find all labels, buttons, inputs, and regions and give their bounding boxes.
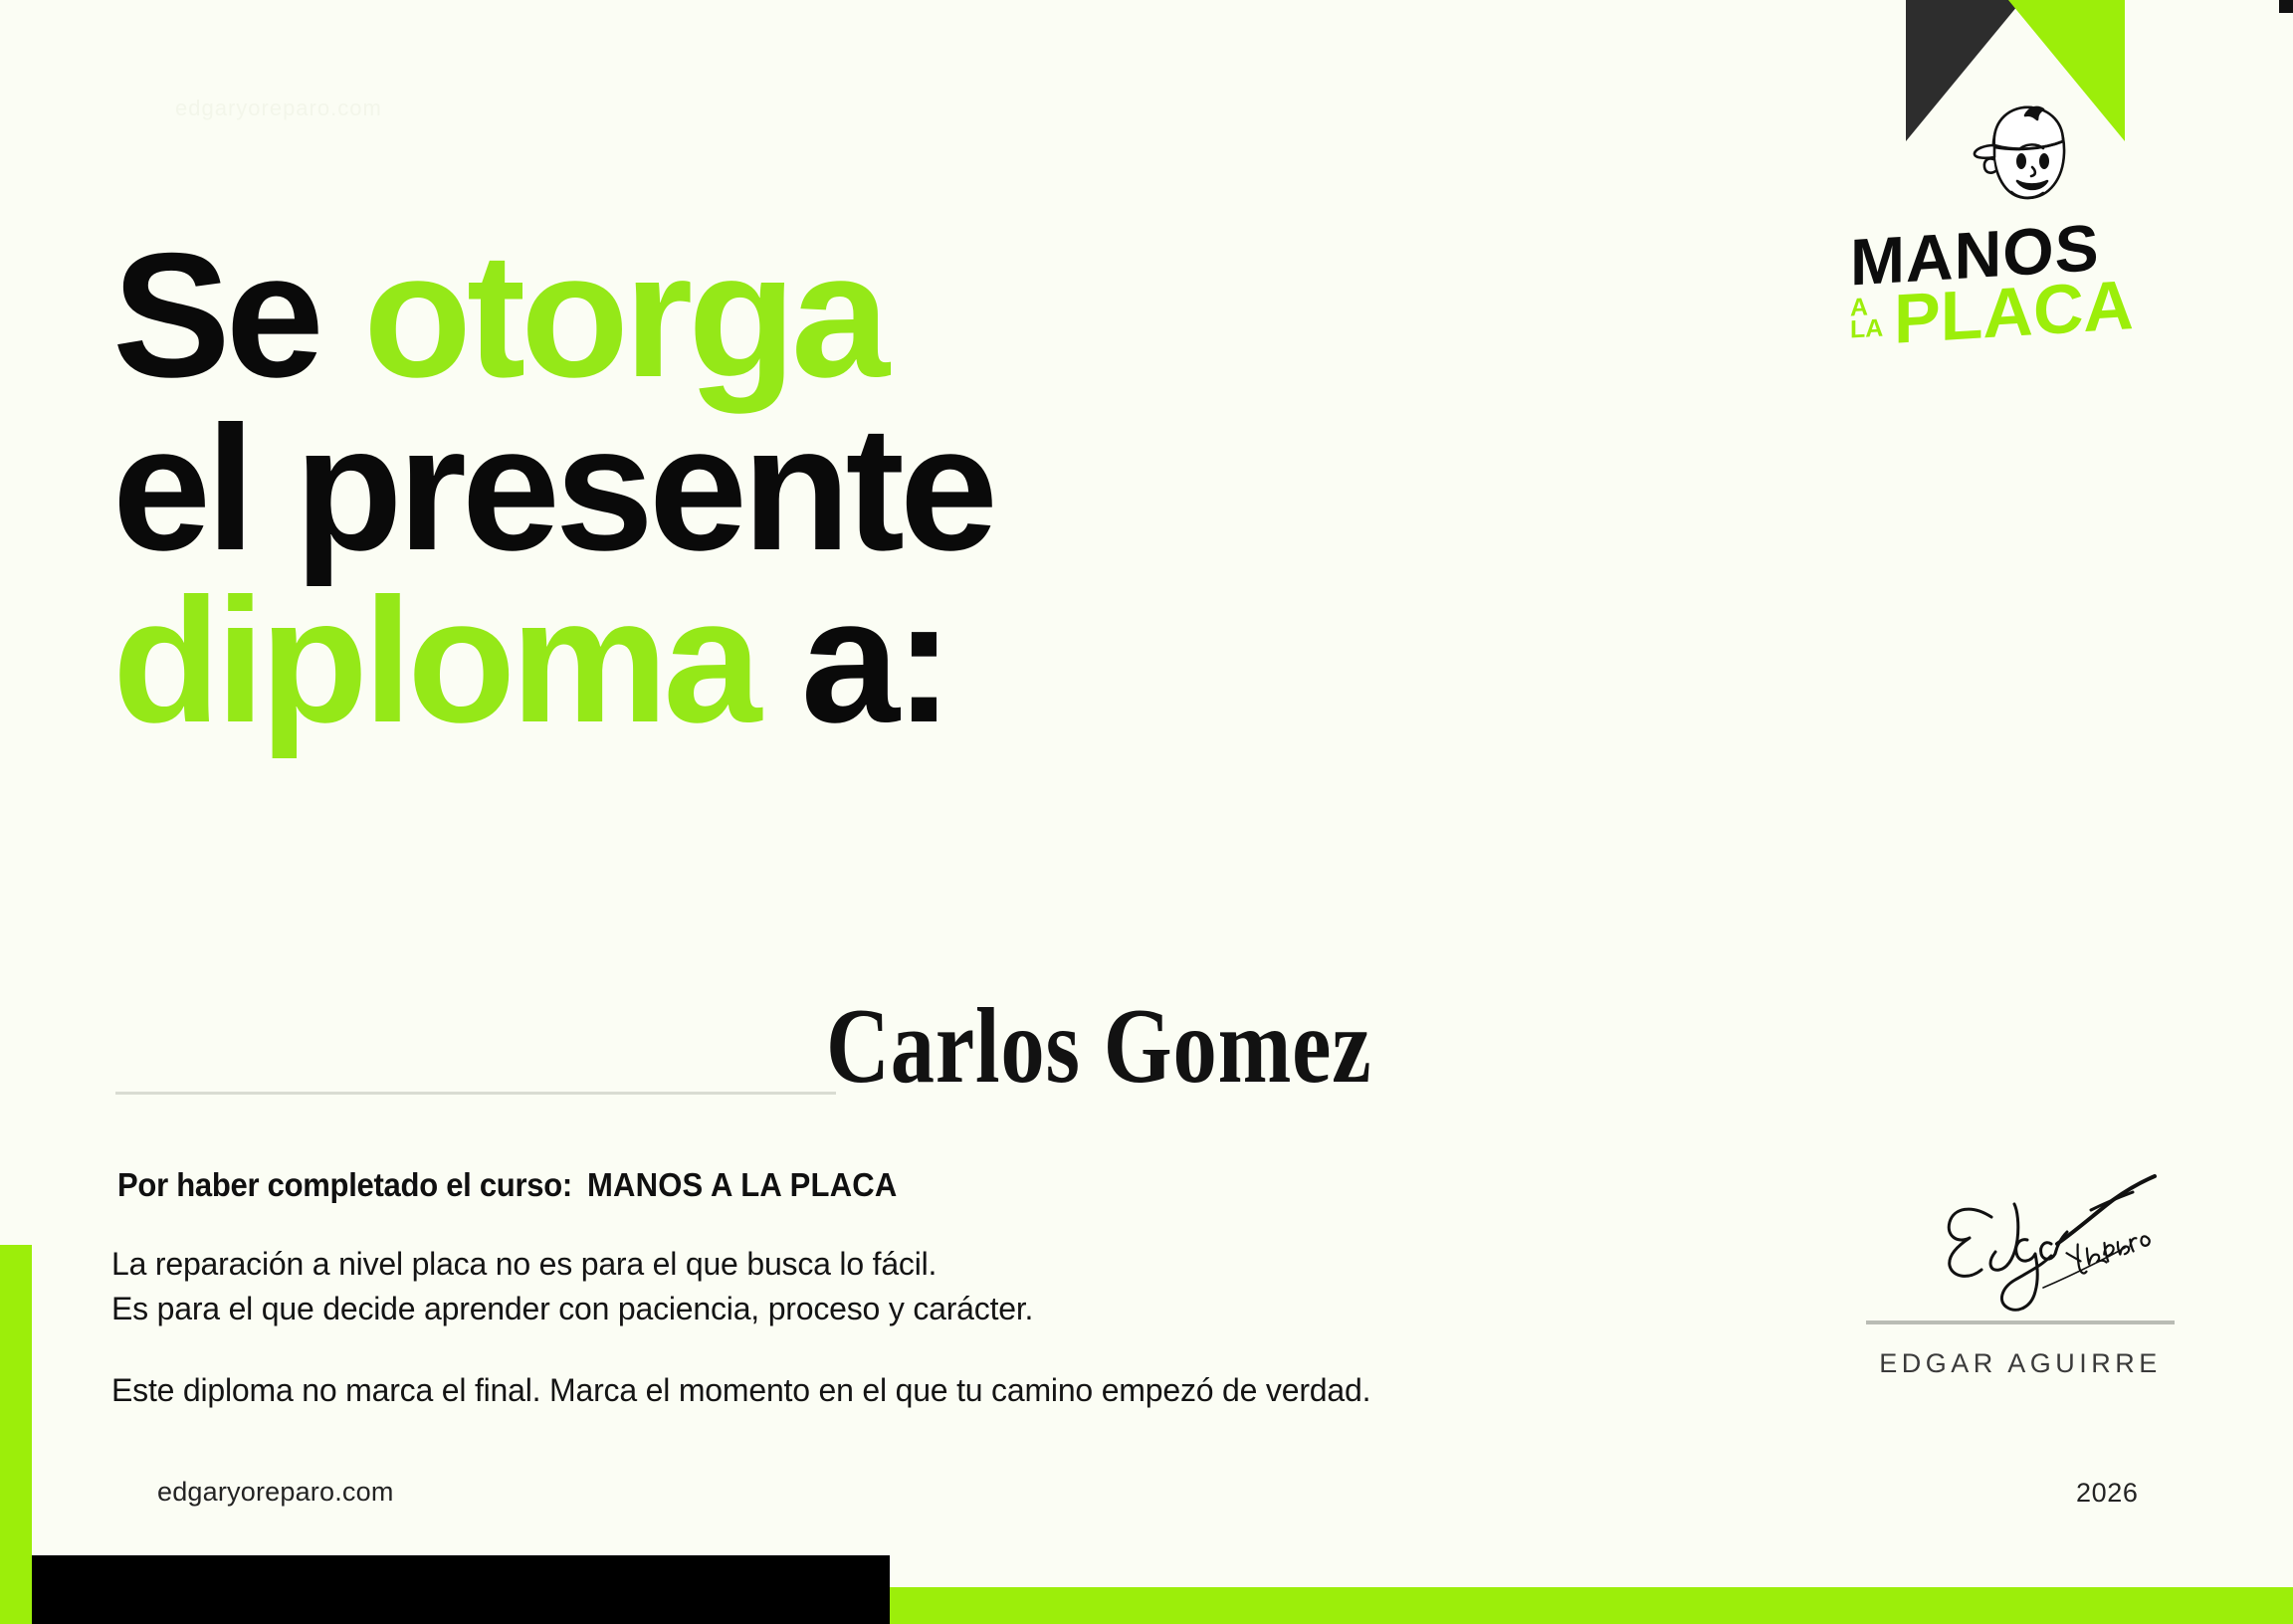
headline-otorga: otorga (363, 216, 885, 414)
logo-wordmark-second-line: A LA PLACA (1850, 270, 2224, 358)
headline-line-3: diploma a: (112, 574, 1665, 747)
body-paragraph-1-line-1: La reparación a nivel placa no es para e… (111, 1242, 1664, 1287)
headline-el-presente: el presente (112, 389, 993, 587)
brand-logo: MANOS A LA PLACA (1846, 0, 2224, 452)
signature-block: EDGAR AGUIRRE (1846, 1160, 2194, 1379)
logo-wordmark-a-la: A LA (1850, 294, 1896, 340)
logo-wordmark-placa: PLACA (1894, 270, 2134, 354)
course-prefix-label: Por haber completado el curso: (117, 1166, 572, 1203)
signature-art (1846, 1160, 2194, 1315)
body-paragraph-2: Este diploma no marca el final. Marca el… (111, 1368, 1664, 1413)
paragraph-spacer (111, 1332, 1664, 1368)
body-copy: La reparación a nivel placa no es para e… (111, 1242, 1664, 1413)
footer-website: edgaryoreparo.com (157, 1477, 394, 1508)
headline-a-colon: a: (756, 561, 948, 759)
signature-rule (1866, 1320, 2175, 1324)
diploma-certificate: edgaryoreparo.com (0, 0, 2293, 1624)
logo-wordmark-la: LA (1850, 315, 1896, 340)
bottom-green-accent-bar (890, 1587, 2293, 1624)
top-right-corner-tick (2279, 0, 2293, 13)
recipient-name: Carlos Gomez (826, 985, 1371, 1109)
course-completion-line: Por haber completado el curso:MANOS A LA… (117, 1166, 897, 1204)
course-title: MANOS A LA PLACA (587, 1166, 897, 1203)
handwritten-signature-icon (1846, 1160, 2194, 1319)
recipient-name-rule (115, 1092, 836, 1095)
footer-year: 2026 (2076, 1478, 2138, 1509)
bottom-black-accent-bar (32, 1555, 890, 1624)
page-title: Se otorga el presente diploma a: (112, 229, 1665, 747)
boy-with-backwards-cap-icon (1964, 94, 2083, 221)
headline-line-2: el presente (112, 402, 1665, 575)
left-green-accent-bar (0, 1245, 32, 1624)
signatory-name: EDGAR AGUIRRE (1846, 1348, 2194, 1379)
logo-wordmark: MANOS A LA PLACA (1846, 221, 2224, 347)
headline-diploma: diploma (112, 561, 756, 759)
headline-line-1: Se otorga (112, 229, 1665, 402)
headline-se: Se (112, 216, 363, 414)
body-paragraph-1-line-2: Es para el que decide aprender con pacie… (111, 1287, 1664, 1331)
watermark-text: edgaryoreparo.com (175, 96, 382, 121)
